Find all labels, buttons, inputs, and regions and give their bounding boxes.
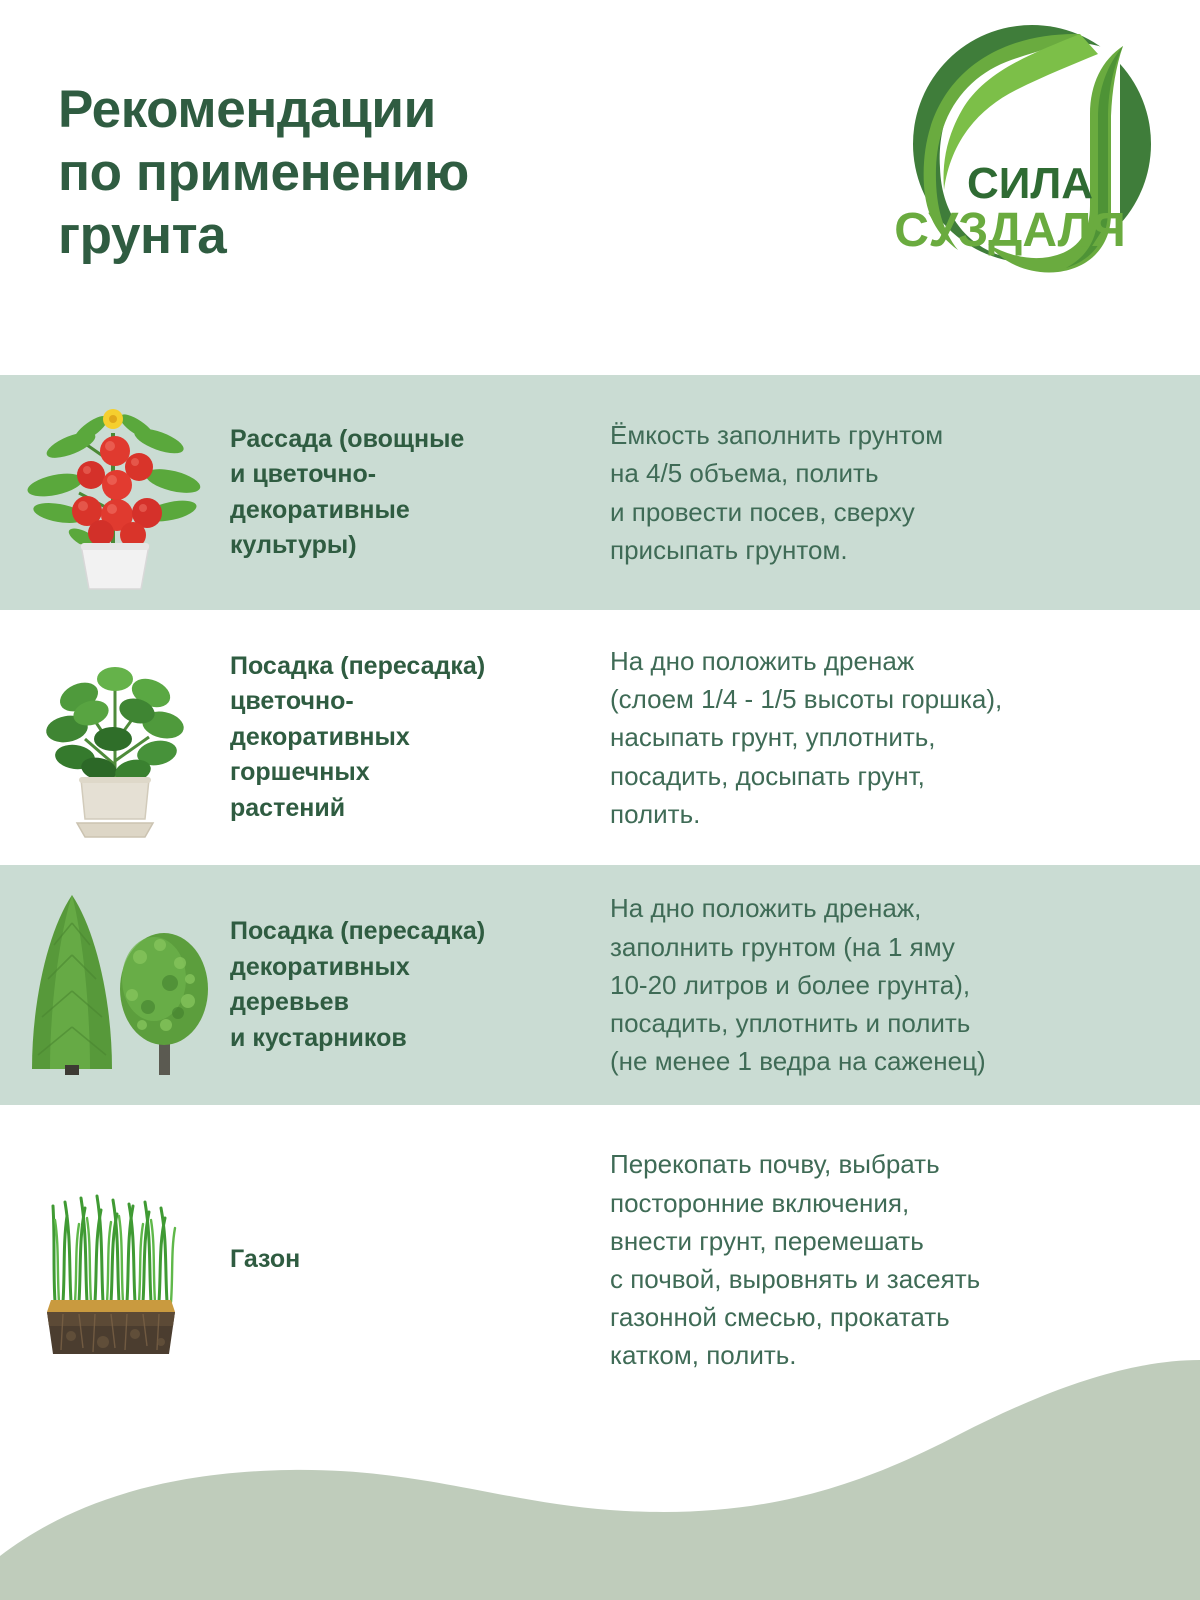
page-header: Рекомендации по применению грунта СИЛА С… xyxy=(0,0,1200,375)
tomato-plant-in-pot-image xyxy=(0,393,230,593)
row-description: На дно положить дренаж, заполнить грунто… xyxy=(610,889,1200,1080)
sila-suzdalya-logo: СИЛА СУЗДАЛЯ xyxy=(880,18,1170,288)
row-description: Перекопать почву, выбрать посторонние вк… xyxy=(610,1145,1200,1374)
lawn-grass-sod-image xyxy=(0,1160,230,1360)
recommendation-row-potted-plants: Посадка (пересадка) цветочно- декоративн… xyxy=(0,610,1200,865)
trees-and-shrubs-image xyxy=(0,883,230,1088)
row-title: Посадка (пересадка) декоративных деревье… xyxy=(230,914,610,1056)
row-title: Рассада (овощные и цветочно- декоративны… xyxy=(230,422,610,564)
row-description: Ёмкость заполнить грунтом на 4/5 объема,… xyxy=(610,416,1200,569)
row-description: На дно положить дренаж (слоем 1/4 - 1/5 … xyxy=(610,642,1200,833)
row-title: Газон xyxy=(230,1242,610,1278)
recommendation-row-seedlings: Рассада (овощные и цветочно- декоративны… xyxy=(0,375,1200,610)
recommendation-row-trees-shrubs: Посадка (пересадка) декоративных деревье… xyxy=(0,865,1200,1105)
houseplant-in-ceramic-pot-image xyxy=(0,633,230,843)
logo-line-2: СУЗДАЛЯ xyxy=(894,204,1126,257)
row-title: Посадка (пересадка) цветочно- декоративн… xyxy=(230,649,610,827)
infographic-page: Рекомендации по применению грунта СИЛА С… xyxy=(0,0,1200,1600)
page-title: Рекомендации по применению грунта xyxy=(58,78,678,267)
logo-line-1: СИЛА xyxy=(967,159,1093,208)
bottom-wave-decoration xyxy=(0,1360,1200,1600)
